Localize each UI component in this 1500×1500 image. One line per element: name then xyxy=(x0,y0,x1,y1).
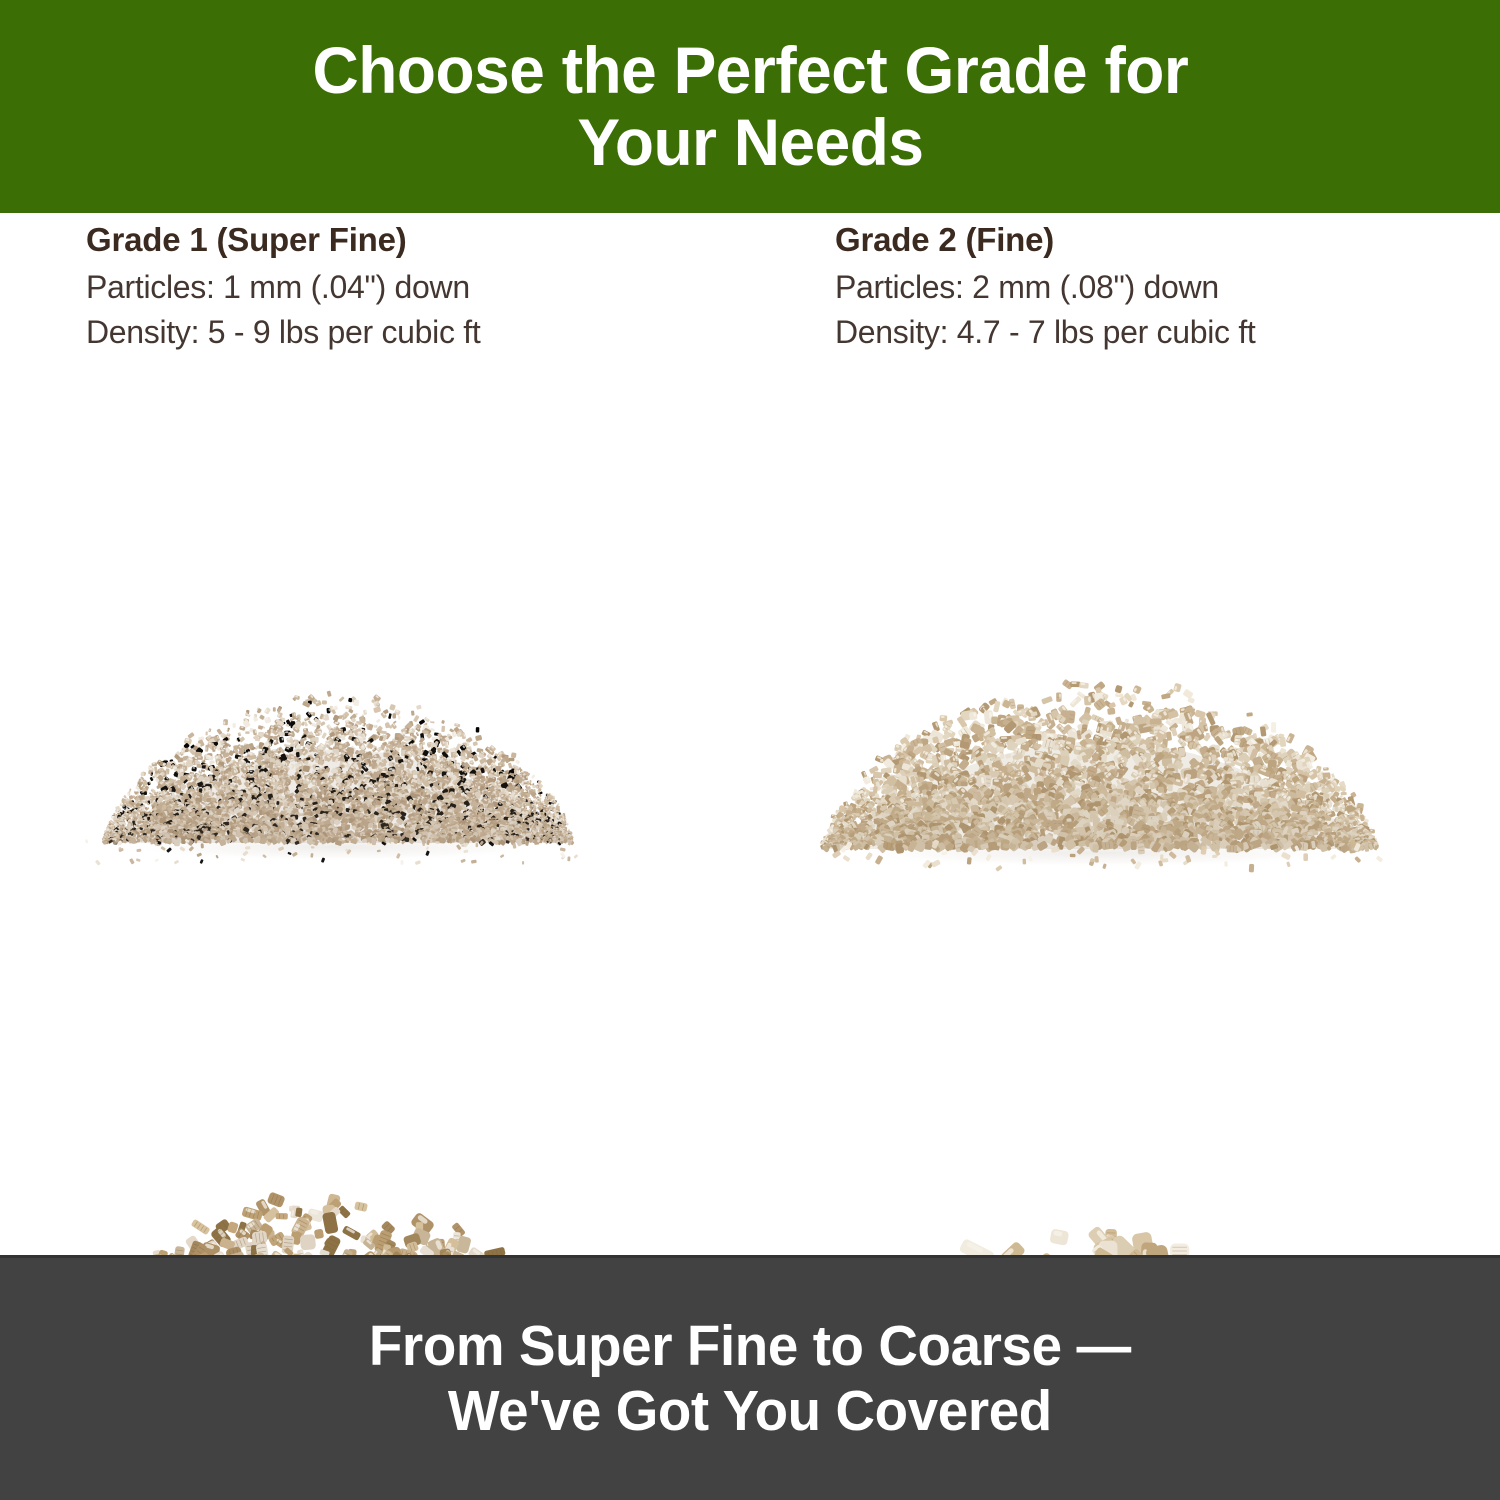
grade-1-density: Density: 5 - 9 lbs per cubic ft xyxy=(86,310,746,355)
grade-2-heading: Grade 2 (Fine) xyxy=(835,221,1495,259)
footer-tagline-line-1: From Super Fine to Coarse — xyxy=(369,1314,1131,1378)
grade-2-density: Density: 4.7 - 7 lbs per cubic ft xyxy=(835,310,1495,355)
grade-2-particles: Particles: 2 mm (.08") down xyxy=(835,265,1495,310)
footer-tagline: From Super Fine to Coarse — We've Got Yo… xyxy=(369,1314,1131,1444)
grades-grid: Grade 1 (Super Fine) Particles: 1 mm (.0… xyxy=(0,213,1500,1255)
vermiculite-pile-grade-1-image xyxy=(78,605,598,875)
page-title-line-2: Your Needs xyxy=(577,105,923,179)
grade-card-2: Grade 2 (Fine) Particles: 2 mm (.08") do… xyxy=(835,221,1495,356)
grade-1-particles: Particles: 1 mm (.04") down xyxy=(86,265,746,310)
header-banner: Choose the Perfect Grade for Your Needs xyxy=(0,0,1500,213)
page-title: Choose the Perfect Grade for Your Needs xyxy=(312,35,1188,178)
footer-tagline-line-2: We've Got You Covered xyxy=(448,1379,1052,1443)
page-title-line-1: Choose the Perfect Grade for xyxy=(312,33,1188,107)
footer-banner: From Super Fine to Coarse — We've Got Yo… xyxy=(0,1255,1500,1500)
grade-card-1: Grade 1 (Super Fine) Particles: 1 mm (.0… xyxy=(86,221,746,356)
vermiculite-pile-grade-2-image xyxy=(800,583,1400,883)
grade-1-heading: Grade 1 (Super Fine) xyxy=(86,221,746,259)
